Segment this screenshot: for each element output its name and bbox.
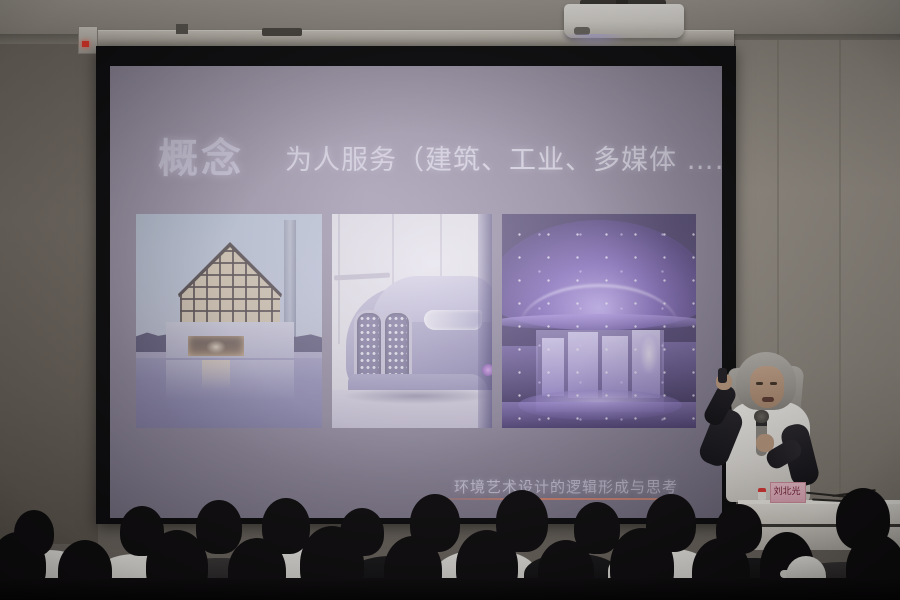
mouth [762,397,774,402]
wall-seam [839,40,841,540]
power-led-icon [82,41,89,47]
screen-vignette [110,66,722,518]
microphone-head [754,410,769,423]
projection-screen: 概念 为人服务（建筑、工业、多媒体 ……） [110,66,722,518]
eye-left [756,382,763,385]
foreground-shadow [0,578,900,600]
presentation-clicker-icon [718,368,727,383]
screen-roller-end-cap [78,26,98,54]
eye-right [770,382,777,385]
roller-bracket [176,24,188,34]
roller-bracket [262,28,302,36]
left-wall [0,44,98,544]
hand-right [756,434,774,452]
lecture-hall-photo: EPSON 概念 为人服务（建筑、工业、多媒体 ……） [0,0,900,600]
